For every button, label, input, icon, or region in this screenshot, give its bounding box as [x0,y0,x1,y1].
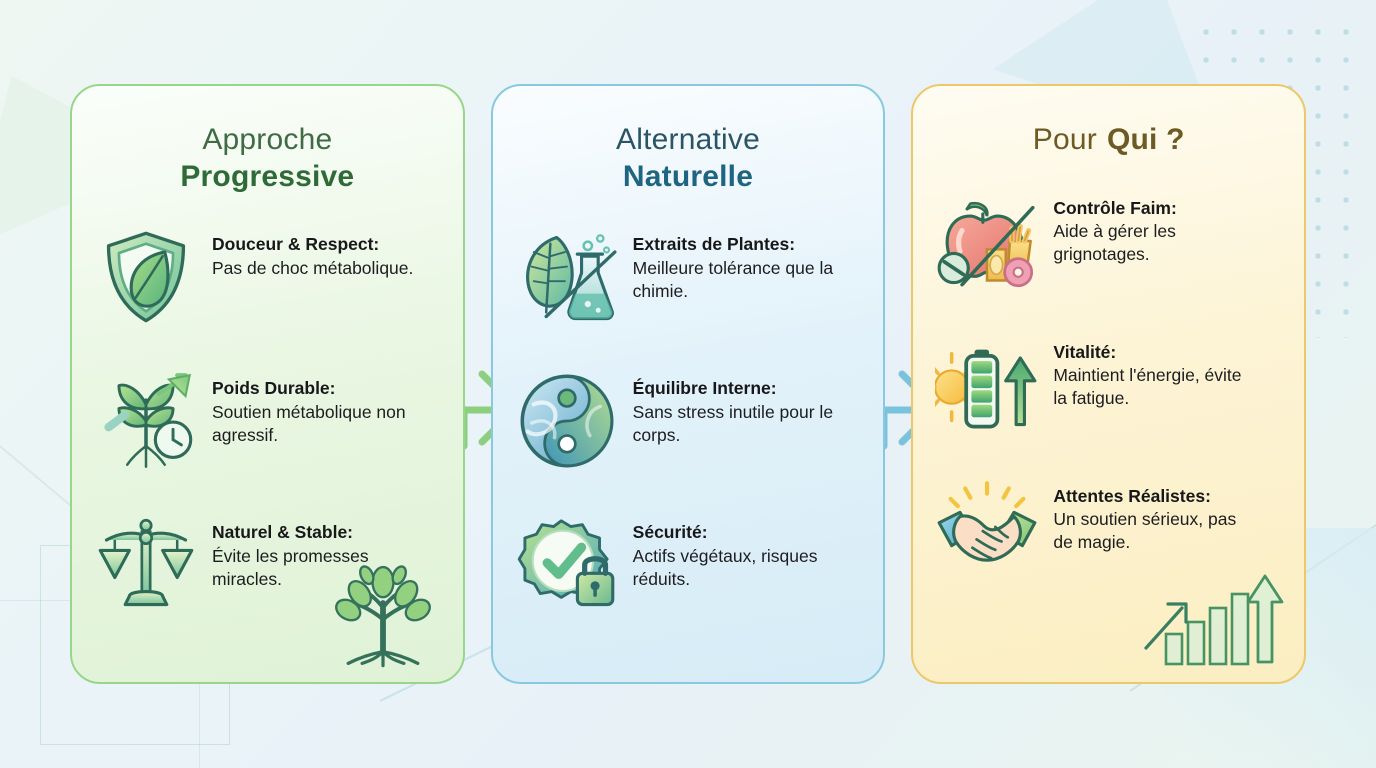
handshake-icon [935,477,1039,581]
plant-growth-clock-icon [94,369,198,473]
list-item-desc: Sans stress inutile pour le corps. [633,401,838,447]
list-item-text: Douceur & Respect: Pas de choc métaboliq… [212,225,413,280]
check-badge-lock-icon [515,513,619,617]
panel-alternative-naturelle: Alternative Naturelle [491,84,886,684]
list-item-text: Poids Durable: Soutien métabolique non a… [212,369,417,447]
list-item: Douceur & Respect: Pas de choc métaboliq… [94,225,441,343]
panel-title: Approche Progressive [94,122,441,195]
list-item-title: Attentes Réalistes: [1053,485,1258,508]
feature-list: Douceur & Respect: Pas de choc métaboliq… [94,225,441,631]
panel-title-light: Pour [1033,122,1097,159]
list-item: Vitalité: Maintient l'énergie, évite la … [935,333,1282,451]
yin-yang-icon [515,369,619,473]
panel-title-bold: Progressive [94,159,441,196]
list-item-desc: Pas de choc métabolique. [212,257,413,280]
leaf-flask-icon [515,225,619,329]
list-item-text: Extraits de Plantes: Meilleure tolérance… [633,225,838,303]
panel-approche-progressive: Approche Progressive [70,84,465,684]
list-item-title: Équilibre Interne: [633,377,838,400]
list-item-title: Poids Durable: [212,377,417,400]
list-item-text: Contrôle Faim: Aide à gérer les grignota… [1053,189,1258,267]
list-item-title: Sécurité: [633,521,838,544]
list-item-desc: Soutien métabolique non agressif. [212,401,417,447]
list-item-desc: Aide à gérer les grignotages. [1053,220,1258,266]
list-item: Attentes Réalistes: Un soutien sérieux, … [935,477,1282,595]
sun-battery-arrow-icon [935,333,1039,437]
list-item: Poids Durable: Soutien métabolique non a… [94,369,441,487]
panel-title: Alternative Naturelle [515,122,862,195]
infographic-canvas: Approche Progressive [0,0,1376,768]
apple-junkfood-noentry-icon [935,189,1039,293]
list-item-text: Vitalité: Maintient l'énergie, évite la … [1053,333,1258,411]
list-item-title: Vitalité: [1053,341,1258,364]
panel-title-light: Approche [94,122,441,159]
panel-row: Approche Progressive [0,0,1376,768]
panel-title-light: Alternative [515,122,862,159]
list-item-title: Extraits de Plantes: [633,233,838,256]
panel-pour-qui: Pour Qui ? [911,84,1306,684]
list-item-text: Attentes Réalistes: Un soutien sérieux, … [1053,477,1258,555]
list-item-title: Douceur & Respect: [212,233,413,256]
list-item: Équilibre Interne: Sans stress inutile p… [515,369,862,487]
shield-leaf-icon [94,225,198,329]
list-item-title: Contrôle Faim: [1053,197,1258,220]
list-item-desc: Un soutien sérieux, pas de magie. [1053,508,1258,554]
list-item-text: Naturel & Stable: Évite les promesses mi… [212,513,417,591]
list-item-title: Naturel & Stable: [212,521,417,544]
list-item-desc: Meilleure tolérance que la chimie. [633,257,838,303]
list-item-text: Équilibre Interne: Sans stress inutile p… [633,369,838,447]
panel-title-bold: Qui ? [1107,122,1185,159]
list-item-desc: Actifs végétaux, risques réduits. [633,545,838,591]
feature-list: Contrôle Faim: Aide à gérer les grignota… [935,189,1282,595]
panel-title: Pour Qui ? [935,122,1282,159]
list-item-desc: Maintient l'énergie, évite la fatigue. [1053,364,1258,410]
feature-list: Extraits de Plantes: Meilleure tolérance… [515,225,862,631]
list-item: Sécurité: Actifs végétaux, risques rédui… [515,513,862,631]
list-item: Extraits de Plantes: Meilleure tolérance… [515,225,862,343]
list-item: Contrôle Faim: Aide à gérer les grignota… [935,189,1282,307]
list-item-text: Sécurité: Actifs végétaux, risques rédui… [633,513,838,591]
list-item-desc: Évite les promesses miracles. [212,545,417,591]
balance-scales-icon [94,513,198,617]
list-item: Naturel & Stable: Évite les promesses mi… [94,513,441,631]
panel-title-bold: Naturelle [515,159,862,196]
